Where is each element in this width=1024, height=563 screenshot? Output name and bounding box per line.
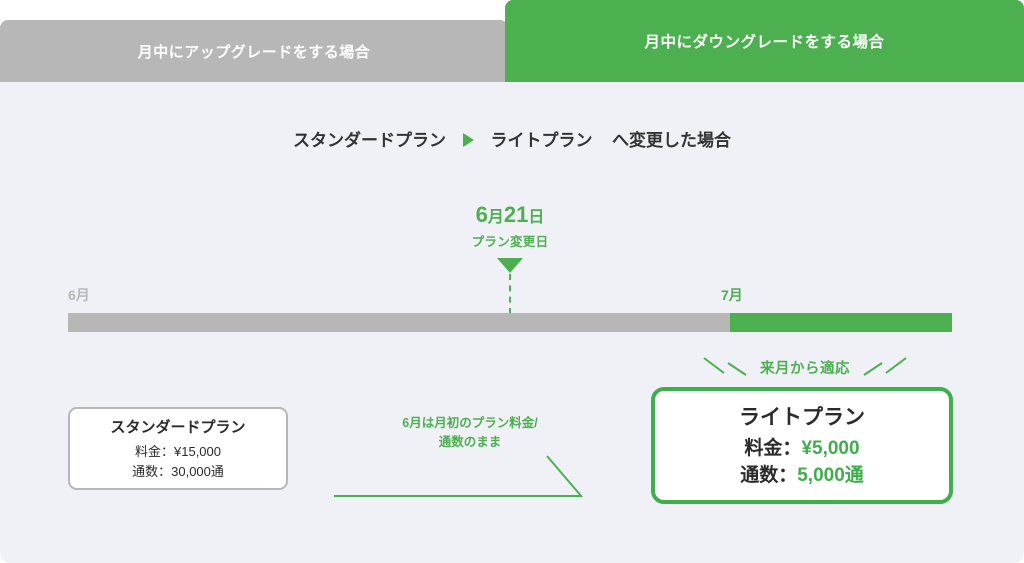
triangle-right-icon (463, 133, 474, 147)
next-plan-price-label: 料金： (744, 438, 801, 459)
apply-badge-label: 来月から適応 (760, 357, 850, 378)
apply-badge: 来月から適応 (645, 356, 965, 378)
transition-arrow-icon (333, 454, 585, 498)
content-panel: スタンダードプラン ライトプラン へ変更した場合 6月21日 プラン変更日 6月… (0, 82, 1024, 563)
timeline-bar (68, 313, 952, 332)
next-plan-price-value: ¥5,000 (801, 438, 859, 459)
current-plan-price: 料金：¥15,000 (135, 442, 221, 462)
next-plan-count: 通数：5,000通 (740, 463, 864, 490)
next-plan-card: ライトプラン 料金：¥5,000 通数：5,000通 (651, 387, 953, 504)
change-date-caption: プラン変更日 (410, 231, 610, 250)
slash-left-icon (702, 356, 750, 378)
transition-note: 6月は月初のプラン料金/ 通数のまま (330, 414, 610, 453)
change-date-value: 6月21日 (410, 202, 610, 227)
transition-note-line1: 6月は月初のプラン料金/ (330, 414, 610, 433)
change-date-day: 21 (504, 202, 528, 227)
next-plan-name: ライトプラン (739, 401, 865, 431)
current-plan-count-value: 30,000通 (171, 464, 224, 479)
transition-note-line2: 通数のまま (330, 433, 610, 452)
change-date-marker: 6月21日 プラン変更日 (410, 202, 610, 273)
tab-upgrade[interactable]: 月中にアップグレードをする場合 (0, 20, 508, 82)
plan-change-infographic: 月中にアップグレードをする場合 月中にダウングレードをする場合 スタンダードプラ… (0, 0, 1024, 563)
timeline-label-end: 7月 (721, 285, 743, 305)
tab-upgrade-label: 月中にアップグレードをする場合 (138, 41, 371, 62)
tab-downgrade-label: 月中にダウングレードをする場合 (644, 30, 884, 52)
current-plan-price-label: 料金： (135, 444, 174, 459)
marker-dashed-line (509, 274, 511, 314)
current-plan-count-label: 通数： (132, 464, 171, 479)
marker-triangle-down-icon (497, 258, 523, 273)
current-plan-name: スタンダードプラン (110, 416, 245, 437)
change-title: スタンダードプラン ライトプラン へ変更した場合 (0, 126, 1024, 151)
timeline-bar-next-month (730, 313, 952, 332)
change-date-month: 6 (476, 202, 488, 227)
tab-downgrade[interactable]: 月中にダウングレードをする場合 (505, 0, 1024, 82)
change-title-from-plan: スタンダードプラン (293, 131, 446, 150)
change-title-to-plan: ライトプラン (491, 131, 593, 150)
timeline-label-start: 6月 (68, 285, 90, 305)
next-plan-price: 料金：¥5,000 (744, 436, 859, 463)
change-date-month-unit: 月 (488, 209, 504, 226)
current-plan-card: スタンダードプラン 料金：¥15,000 通数：30,000通 (68, 407, 288, 490)
next-plan-count-label: 通数： (740, 465, 797, 486)
change-date-day-unit: 日 (528, 209, 544, 226)
current-plan-price-value: ¥15,000 (174, 444, 221, 459)
slash-right-icon (860, 356, 908, 378)
next-plan-count-value: 5,000通 (797, 465, 864, 486)
current-plan-count: 通数：30,000通 (132, 462, 224, 482)
change-title-suffix: へ変更した場合 (612, 131, 731, 150)
